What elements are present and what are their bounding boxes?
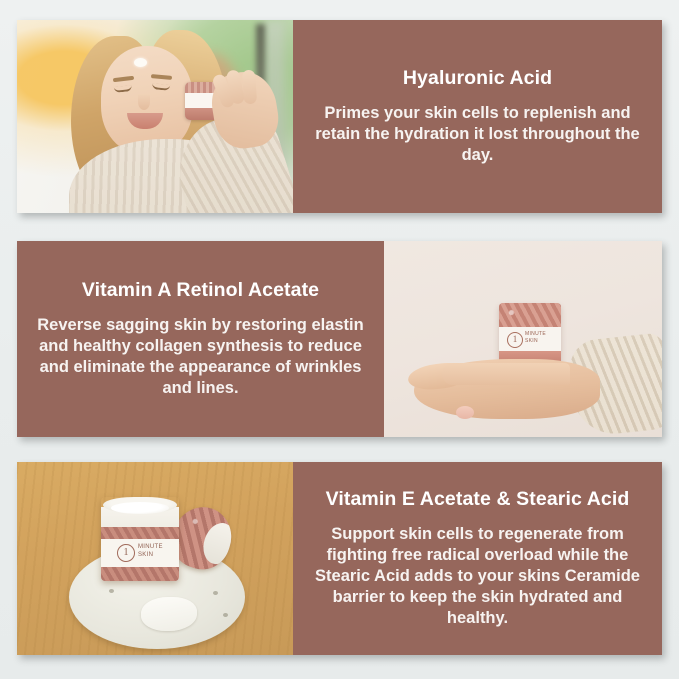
lid-inner-face [198, 519, 239, 568]
label-brand-text: MINUTE SKIN [138, 543, 163, 559]
fingers [442, 363, 570, 385]
benefit-body: Support skin cells to regenerate from fi… [309, 524, 646, 630]
benefit-title: Vitamin A Retinol Acetate [82, 279, 319, 301]
label-brand-line1: MINUTE [138, 544, 163, 550]
benefit-panel-hyaluronic-acid: Hyaluronic Acid Primes your skin cells t… [17, 20, 662, 213]
cream-jar-closed: 1 MINUTE SKIN [499, 303, 561, 367]
marble-speck [109, 589, 114, 593]
hand-holding-jar-photo: 1 MINUTE SKIN [384, 241, 662, 437]
label-brand-line2: SKIN [525, 338, 538, 344]
jar-base [101, 567, 179, 581]
cream-swatch [141, 597, 197, 631]
woman-applying-cream-photo [17, 20, 293, 213]
benefit-title: Vitamin E Acetate & Stearic Acid [326, 488, 630, 510]
benefit-title: Hyaluronic Acid [403, 67, 552, 89]
fingernail [456, 406, 474, 419]
jar-lid [499, 303, 561, 327]
benefit-panel-vitamin-e-acetate-stearic-acid: 1 MINUTE SKIN Vitamin E Acetate & Steari… [17, 462, 662, 655]
benefit-copy-block: Vitamin A Retinol Acetate Reverse saggin… [17, 241, 384, 437]
benefit-panel-vitamin-a-retinol-acetate: 1 MINUTE SKIN Vitamin A Retinol Acetate … [17, 241, 662, 437]
benefit-copy-block: Vitamin E Acetate & Stearic Acid Support… [293, 462, 662, 655]
infographic-page: Hyaluronic Acid Primes your skin cells t… [0, 0, 679, 679]
benefit-body: Reverse sagging skin by restoring elasti… [35, 315, 366, 399]
label-brand-line2: SKIN [138, 552, 153, 558]
finger [242, 70, 257, 105]
marble-speck [223, 613, 228, 617]
photo-scene-open-jar: 1 MINUTE SKIN [17, 462, 293, 655]
marble-speck [213, 591, 218, 595]
benefit-copy-block: Hyaluronic Acid Primes your skin cells t… [293, 20, 662, 213]
cream-dot-on-forehead [134, 58, 147, 67]
label-number-badge: 1 [507, 332, 523, 348]
label-brand-text: MINUTE SKIN [525, 331, 546, 345]
jar-upper-band [101, 527, 179, 539]
photo-scene-woman [17, 20, 293, 213]
open-jar-on-dish-photo: 1 MINUTE SKIN [17, 462, 293, 655]
photo-scene-hand: 1 MINUTE SKIN [384, 241, 662, 437]
nose [138, 94, 150, 110]
cream-inside-jar [111, 502, 169, 514]
cream-jar-open: 1 MINUTE SKIN [101, 497, 179, 581]
label-brand-line1: MINUTE [525, 331, 546, 337]
label-number-badge: 1 [117, 544, 135, 562]
benefit-body: Primes your skin cells to replenish and … [313, 103, 642, 166]
